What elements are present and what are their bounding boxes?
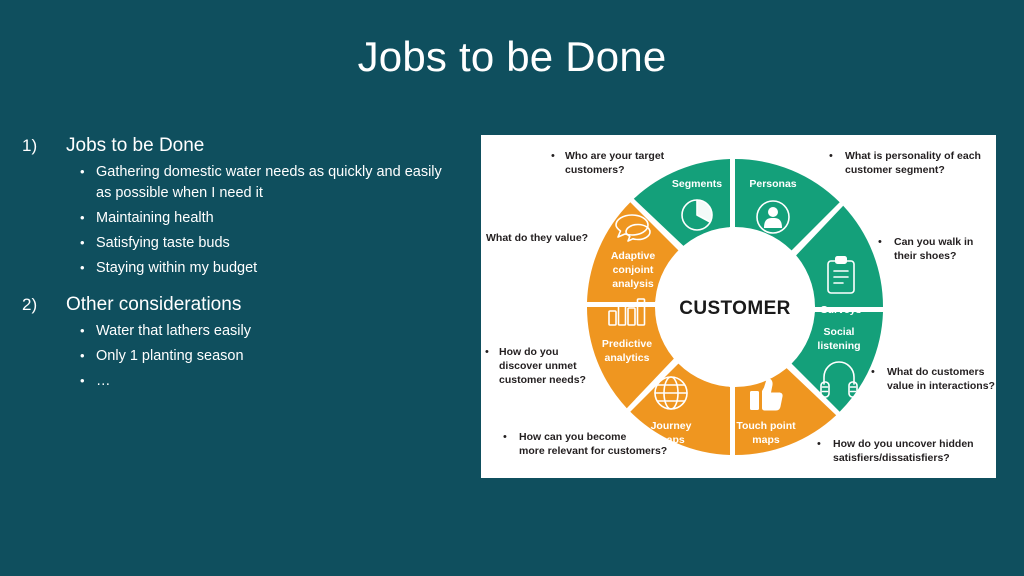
annotation-bullet: • bbox=[485, 346, 489, 358]
segment-label-segments: Segments bbox=[672, 178, 722, 190]
segment-label-adaptive-conjoint: Adaptive conjoint analysis bbox=[611, 250, 656, 290]
list-item-label: Satisfying taste buds bbox=[96, 233, 452, 254]
svg-text:value in interactions?: value in interactions? bbox=[887, 380, 995, 392]
svg-text:customers?: customers? bbox=[565, 164, 625, 176]
svg-text:What do customers: What do customers bbox=[887, 366, 985, 378]
svg-text:discover unmet: discover unmet bbox=[499, 360, 577, 372]
bullet-glyph: • bbox=[80, 163, 96, 182]
bullet-glyph: • bbox=[80, 234, 96, 253]
svg-text:Adaptive: Adaptive bbox=[611, 250, 656, 262]
annotation-more-relevant: • How can you become more relevant for c… bbox=[503, 431, 667, 457]
list-item: • Gathering domestic water needs as quic… bbox=[22, 162, 452, 204]
content-section-1: 1) Jobs to be Done • Gathering domestic … bbox=[22, 134, 452, 279]
svg-text:their shoes?: their shoes? bbox=[894, 250, 956, 262]
section-2-number: 2) bbox=[22, 294, 66, 315]
annotation-bullet: • bbox=[503, 431, 507, 443]
svg-text:Predictive: Predictive bbox=[602, 338, 652, 350]
customer-donut-diagram-panel: Segments Personas Surveys Social listeni… bbox=[481, 135, 996, 478]
annotation-bullet: • bbox=[878, 236, 882, 248]
list-item: • Satisfying taste buds bbox=[22, 233, 452, 254]
section-2-list: • Water that lathers easily • Only 1 pla… bbox=[22, 321, 452, 392]
bullet-glyph: • bbox=[80, 259, 96, 278]
svg-text:What is personality of each: What is personality of each bbox=[845, 150, 981, 162]
annotation-bullet: • bbox=[551, 150, 555, 162]
svg-text:conjoint: conjoint bbox=[613, 264, 654, 276]
list-item: • Only 1 planting season bbox=[22, 346, 452, 367]
list-item-label: Maintaining health bbox=[96, 208, 452, 229]
segment-label-surveys: Surveys bbox=[821, 304, 862, 316]
bullet-glyph: • bbox=[80, 322, 96, 341]
page-title: Jobs to be Done bbox=[0, 34, 1024, 80]
annotation-personality: • What is personality of each customer s… bbox=[829, 150, 981, 176]
svg-text:listening: listening bbox=[817, 340, 860, 352]
svg-text:Who are your target: Who are your target bbox=[565, 150, 665, 162]
svg-text:Journey: Journey bbox=[651, 420, 692, 432]
bullet-content: 1) Jobs to be Done • Gathering domestic … bbox=[22, 134, 452, 402]
list-item-label: Water that lathers easily bbox=[96, 321, 452, 342]
svg-text:How do you: How do you bbox=[499, 346, 559, 358]
list-item-label: Gathering domestic water needs as quickl… bbox=[96, 162, 452, 204]
svg-text:Can you walk in: Can you walk in bbox=[894, 236, 973, 248]
annotation-what-value: What do they value? bbox=[486, 232, 588, 244]
svg-text:Touch point: Touch point bbox=[736, 420, 796, 432]
svg-text:customer segment?: customer segment? bbox=[845, 164, 945, 176]
section-2-heading: 2) Other considerations bbox=[22, 293, 452, 317]
bullet-glyph: • bbox=[80, 209, 96, 228]
svg-text:How can you become: How can you become bbox=[519, 431, 627, 443]
section-1-title: Jobs to be Done bbox=[66, 134, 204, 158]
svg-text:customer needs?: customer needs? bbox=[499, 374, 586, 386]
section-1-heading: 1) Jobs to be Done bbox=[22, 134, 452, 158]
svg-text:Social: Social bbox=[824, 326, 855, 338]
list-item: • Maintaining health bbox=[22, 208, 452, 229]
annotation-bullet: • bbox=[871, 366, 875, 378]
annotation-bullet: • bbox=[829, 150, 833, 162]
annotation-walk-in-shoes: • Can you walk in their shoes? bbox=[878, 236, 973, 262]
bullet-glyph: • bbox=[80, 347, 96, 366]
list-item: • … bbox=[22, 371, 452, 392]
content-section-2: 2) Other considerations • Water that lat… bbox=[22, 293, 452, 392]
annotation-bullet: • bbox=[817, 438, 821, 450]
section-1-number: 1) bbox=[22, 135, 66, 156]
annotation-unmet-needs: • How do you discover unmet customer nee… bbox=[485, 346, 586, 386]
svg-text:more relevant for customers?: more relevant for customers? bbox=[519, 445, 667, 457]
annotation-target-customers: • Who are your target customers? bbox=[551, 150, 665, 176]
bullet-glyph: • bbox=[80, 372, 96, 391]
svg-text:analytics: analytics bbox=[605, 352, 650, 364]
segment-label-personas: Personas bbox=[749, 178, 796, 190]
annotation-hidden-satisfiers: • How do you uncover hidden satisfiers/d… bbox=[817, 438, 974, 464]
list-item: • Staying within my budget bbox=[22, 258, 452, 279]
customer-donut-svg: Segments Personas Surveys Social listeni… bbox=[481, 135, 996, 478]
svg-text:satisfiers/dissatisfiers?: satisfiers/dissatisfiers? bbox=[833, 452, 950, 464]
list-item-label: … bbox=[96, 371, 452, 392]
svg-text:What do they value?: What do they value? bbox=[486, 232, 588, 244]
svg-text:analysis: analysis bbox=[612, 278, 654, 290]
list-item: • Water that lathers easily bbox=[22, 321, 452, 342]
annotation-value-interactions: • What do customers value in interaction… bbox=[871, 366, 995, 392]
list-item-label: Only 1 planting season bbox=[96, 346, 452, 367]
section-2-title: Other considerations bbox=[66, 293, 241, 317]
center-label: CUSTOMER bbox=[679, 298, 791, 319]
list-item-label: Staying within my budget bbox=[96, 258, 452, 279]
section-1-list: • Gathering domestic water needs as quic… bbox=[22, 162, 452, 279]
svg-text:maps: maps bbox=[752, 434, 780, 446]
svg-text:How do you uncover hidden: How do you uncover hidden bbox=[833, 438, 974, 450]
